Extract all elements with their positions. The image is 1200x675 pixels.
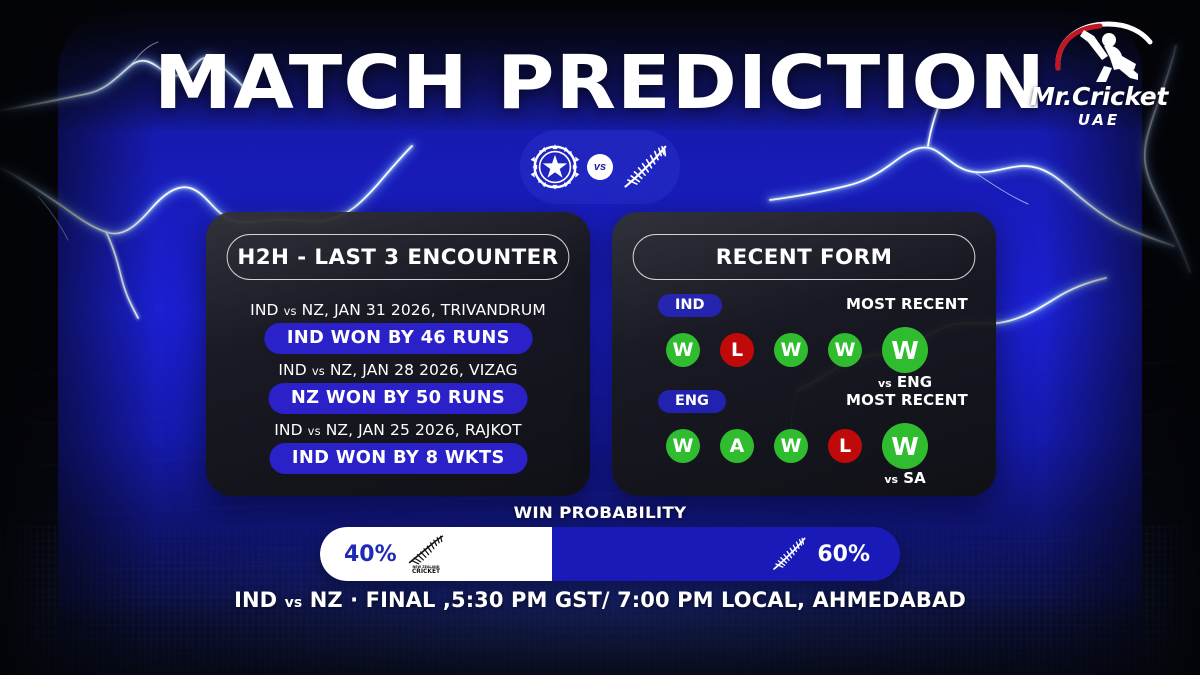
h2h-team-a: IND xyxy=(250,301,278,319)
form-result-chip-most-recent: W xyxy=(882,423,928,469)
recent-form-heading: RECENT FORM xyxy=(633,234,976,280)
brand-logo: Mr.Cricket UAE xyxy=(1024,18,1174,130)
team-pill-eng: ENG xyxy=(658,390,726,413)
form-result-chip: W xyxy=(774,429,808,463)
h2h-heading: H2H - LAST 3 ENCOUNTER xyxy=(227,234,570,280)
h2h-result-badge: IND WON BY 8 WKTS xyxy=(269,443,527,474)
h2h-row: IND vs NZ, JAN 31 2026, TRIVANDRUM IND W… xyxy=(206,296,590,354)
h2h-team-a: IND xyxy=(274,421,302,439)
form-opponent-name: ENG xyxy=(897,373,932,391)
form-opponent-prefix: vs xyxy=(884,473,898,486)
most-recent-label: MOST RECENT xyxy=(846,295,968,313)
match-team-a: IND xyxy=(234,588,277,612)
form-result-chip: L xyxy=(720,333,754,367)
win-probability-right-segment: 60% xyxy=(540,527,900,581)
match-info-line: IND vs NZ · FINAL ,5:30 PM GST/ 7:00 PM … xyxy=(0,588,1200,612)
h2h-meta-rest: NZ, JAN 31 2026, TRIVANDRUM xyxy=(302,301,546,319)
h2h-result-badge: NZ WON BY 50 RUNS xyxy=(268,383,527,414)
h2h-list: IND vs NZ, JAN 31 2026, TRIVANDRUM IND W… xyxy=(206,296,590,476)
h2h-result-badge: IND WON BY 46 RUNS xyxy=(264,323,532,354)
new-zealand-fern-icon xyxy=(769,534,809,574)
form-result-chip: W xyxy=(774,333,808,367)
prediction-graphic: MATCH PREDICTION Mr.Cricket UAE xyxy=(0,0,1200,675)
h2h-match-meta: IND vs NZ, JAN 25 2026, RAJKOT xyxy=(206,416,590,443)
form-block-eng: ENG MOST RECENT W A W L W vs SA xyxy=(612,390,996,472)
brand-sub: UAE xyxy=(1024,109,1174,132)
win-probability-left-segment: 40% NEW ZEALAND CRICKET xyxy=(320,527,552,581)
match-vs: vs xyxy=(285,595,303,611)
h2h-vs: vs xyxy=(312,364,325,378)
form-most-recent-wrap: W vs ENG xyxy=(882,327,928,373)
form-result-chip: A xyxy=(720,429,754,463)
h2h-meta-rest: NZ, JAN 28 2026, VIZAG xyxy=(330,361,518,379)
h2h-meta-rest: NZ, JAN 25 2026, RAJKOT xyxy=(326,421,522,439)
team-pill-ind: IND xyxy=(658,294,722,317)
h2h-vs: vs xyxy=(308,424,321,438)
form-result-chip: L xyxy=(828,429,862,463)
teams-versus-badge: vs xyxy=(520,130,680,204)
win-probability-right-pct: 60% xyxy=(817,542,870,567)
form-circles-ind: W L W W W vs ENG xyxy=(612,324,996,376)
page-title: MATCH PREDICTION xyxy=(0,46,1200,120)
win-probability-left-pct: 40% xyxy=(344,542,397,567)
form-result-chip: W xyxy=(666,429,700,463)
vs-label: vs xyxy=(587,154,613,180)
form-result-chip-most-recent: W xyxy=(882,327,928,373)
h2h-vs: vs xyxy=(284,304,297,318)
h2h-row: IND vs NZ, JAN 25 2026, RAJKOT IND WON B… xyxy=(206,416,590,474)
form-circles-eng: W A W L W vs SA xyxy=(612,420,996,472)
win-probability-label: WIN PROBABILITY xyxy=(0,503,1200,522)
form-most-recent-wrap: W vs SA xyxy=(882,423,928,469)
form-result-chip: W xyxy=(666,333,700,367)
win-probability-bar: 60% 40% NEW ZEALAND CRICKET xyxy=(320,527,900,581)
svg-text:CRICKET: CRICKET xyxy=(412,569,440,575)
recent-form-panel: RECENT FORM IND MOST RECENT W L W W W vs… xyxy=(612,212,996,496)
mr-cricket-batsman-icon xyxy=(1024,18,1174,84)
form-opponent-name: SA xyxy=(903,469,925,487)
h2h-team-a: IND xyxy=(278,361,306,379)
most-recent-label: MOST RECENT xyxy=(846,391,968,409)
form-opponent-prefix: vs xyxy=(878,377,892,390)
new-zealand-cricket-logo-icon: NEW ZEALAND CRICKET xyxy=(403,533,449,575)
h2h-match-meta: IND vs NZ, JAN 31 2026, TRIVANDRUM xyxy=(206,296,590,323)
form-opponent-ind: vs ENG xyxy=(878,373,932,391)
form-result-chip: W xyxy=(828,333,862,367)
h2h-match-meta: IND vs NZ, JAN 28 2026, VIZAG xyxy=(206,356,590,383)
form-opponent-eng: vs SA xyxy=(884,469,925,487)
new-zealand-fern-icon xyxy=(619,141,671,193)
bcci-logo-icon xyxy=(529,141,581,193)
svg-text:NEW ZEALAND: NEW ZEALAND xyxy=(412,565,439,569)
h2h-row: IND vs NZ, JAN 28 2026, VIZAG NZ WON BY … xyxy=(206,356,590,414)
match-details: NZ · FINAL ,5:30 PM GST/ 7:00 PM LOCAL, … xyxy=(310,588,966,612)
h2h-panel: H2H - LAST 3 ENCOUNTER IND vs NZ, JAN 31… xyxy=(206,212,590,496)
form-block-ind: IND MOST RECENT W L W W W vs ENG xyxy=(612,294,996,376)
brand-name: Mr.Cricket xyxy=(1024,84,1174,109)
